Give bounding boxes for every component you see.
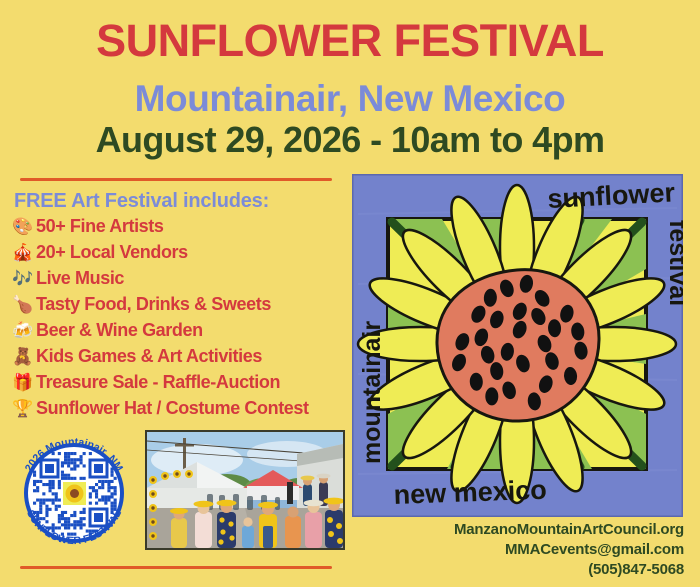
feature-item-label: Treasure Sale - Raffle-Auction — [36, 372, 280, 393]
beer-mugs-icon: 🍻 — [12, 322, 36, 339]
divider-bottom — [20, 566, 332, 569]
feature-item: 🎶Live Music — [12, 265, 352, 291]
contact-block: ManzanoMountainArtCouncil.org MMACevents… — [454, 520, 684, 580]
palette-icon: 🎨 — [12, 218, 36, 235]
feature-item-label: Tasty Food, Drinks & Sweets — [36, 294, 271, 315]
poultry-leg-icon: 🍗 — [12, 296, 36, 313]
gift-icon: 🎁 — [12, 374, 36, 391]
festival-photo — [145, 430, 345, 550]
feature-item: 🏆Sunflower Hat / Costume Contest — [12, 395, 352, 421]
feature-item-label: Kids Games & Art Activities — [36, 346, 262, 367]
page-title: SUNFLOWER FESTIVAL — [0, 18, 700, 63]
festival-poster: SUNFLOWER FESTIVAL Mountainair, New Mexi… — [0, 0, 700, 587]
circus-tent-icon: 🎪 — [12, 244, 36, 261]
svg-text:new mexico: new mexico — [393, 475, 547, 510]
svg-text:mountainair: mountainair — [358, 321, 386, 464]
contact-website[interactable]: ManzanoMountainArtCouncil.org — [454, 520, 684, 540]
feature-item-label: Live Music — [36, 268, 124, 289]
qr-code-badge[interactable]: 2026 Mountainair, NM SUNFLOWER FESTIVAL — [9, 428, 139, 558]
feature-item: 🎨50+ Fine Artists — [12, 213, 352, 239]
trophy-icon: 🏆 — [12, 400, 36, 417]
feature-item-label: Sunflower Hat / Costume Contest — [36, 398, 309, 419]
features-list: 🎨50+ Fine Artists🎪20+ Local Vendors🎶Live… — [12, 213, 352, 421]
musical-notes-icon: 🎶 — [12, 270, 36, 287]
sunflower-painting: sunflower festival mountainair new mexic… — [352, 174, 683, 517]
feature-item-label: 50+ Fine Artists — [36, 216, 163, 237]
feature-item: 🎪20+ Local Vendors — [12, 239, 352, 265]
svg-text:festival: festival — [664, 220, 683, 306]
teddy-bear-icon: 🧸 — [12, 348, 36, 365]
poster-date-time: August 29, 2026 - 10am to 4pm — [0, 122, 700, 158]
feature-item: 🎁Treasure Sale - Raffle-Auction — [12, 369, 352, 395]
divider-top — [20, 178, 332, 181]
feature-item: 🍻Beer & Wine Garden — [12, 317, 352, 343]
feature-item: 🧸Kids Games & Art Activities — [12, 343, 352, 369]
poster-location: Mountainair, New Mexico — [0, 80, 700, 117]
feature-item: 🍗Tasty Food, Drinks & Sweets — [12, 291, 352, 317]
features-heading: FREE Art Festival includes: — [14, 190, 269, 213]
contact-email[interactable]: MMACevents@gmail.com — [454, 540, 684, 560]
feature-item-label: 20+ Local Vendors — [36, 242, 188, 263]
contact-phone[interactable]: (505)847-5068 — [454, 560, 684, 580]
feature-item-label: Beer & Wine Garden — [36, 320, 203, 341]
